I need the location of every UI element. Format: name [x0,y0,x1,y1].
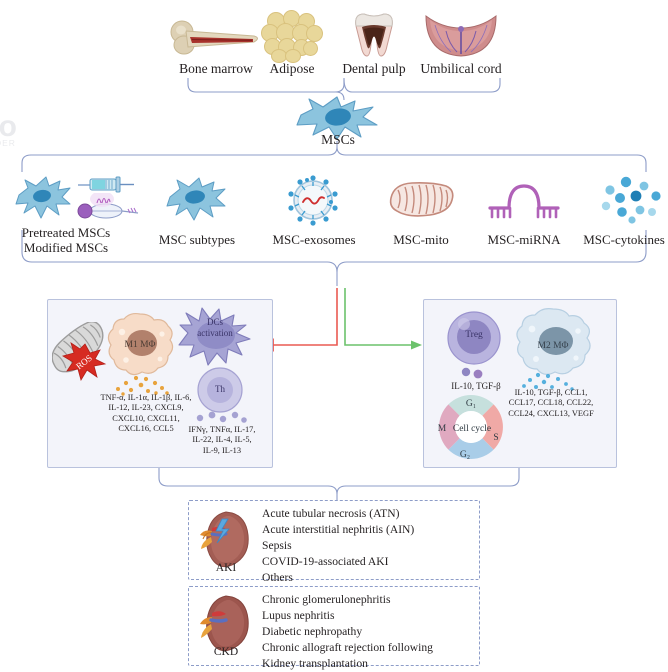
ckd-item-4: Chronic allograft rejection following [262,640,477,656]
aki-item-1: Acute tubular necrosis (ATN) [262,506,472,522]
source-label-umbilical-cord: Umbilical cord [401,61,521,77]
aki-item-5: Others [262,570,472,586]
th-label: Th [200,384,240,394]
msc-bracket-left [22,141,337,172]
bone-marrow-icon [168,14,264,58]
treg-secretion-dots-icon [458,366,492,380]
derivative-label-msc-cytokines: MSC-cytokines [578,232,668,247]
msc-bracket-right [337,147,646,172]
sources-bracket-right [344,78,500,92]
ckd-disease-list: Chronic glomerulonephritis Lupus nephrit… [262,592,477,672]
tooth-icon [350,10,398,60]
panels-bracket-left [159,468,337,500]
msc-subtype-cell-icon [14,175,72,221]
exosome-icon [283,172,343,228]
th-cytokine-line-2: IL-22, IL-4, IL-5, [172,435,272,445]
aki-item-4: COVID-19-associated AKI [262,554,472,570]
ckd-item-1: Chronic glomerulonephritis [262,592,477,608]
cell-cycle-phase-g1: G₁ [466,399,476,409]
umbilical-cord-icon [424,14,498,58]
figure-canvas: bio RENDER [0,0,668,668]
aki-item-3: Sepsis [262,538,472,554]
dc-label-line1: DCs [186,317,244,327]
cytokine-dots-icon [600,176,662,224]
msc-label: MSCs [294,132,382,148]
dc-label-line2: activation [182,328,248,338]
th-cytokine-line-3: IL-9, IL-13 [172,446,272,456]
th-cytokine-line-1: IFNγ, TNFα, IL-17, [172,425,272,435]
aki-caption: AKI [198,562,254,574]
promotion-line [345,288,413,345]
adipose-tissue-icon [259,10,325,60]
cell-cycle-phase-g2: G₂ [460,450,470,460]
ckd-item-5: Kidney transplantation [262,656,477,672]
ckd-item-2: Lupus nephritis [262,608,477,624]
m1-cytokine-line-1: TNF-α, IL-1α, IL-1β, IL-6, [82,393,210,403]
derivative-label-msc-subtypes: MSC subtypes [138,232,256,247]
cell-cycle-phase-m: M [438,424,447,434]
mirna-hairpin-icon [487,182,561,220]
promotion-arrowhead-icon [411,341,422,350]
derivative-label-line1: Pretreated MSCs [0,225,134,240]
cell-cycle-center-label: Cell cycle [453,424,491,434]
derivative-label-msc-exosomes: MSC-exosomes [255,232,373,247]
sources-bracket [188,78,344,92]
gene-modification-icon [76,193,140,227]
msc-subtype-cell-icon-2 [165,176,227,222]
dendritic-cell-icon [176,305,254,371]
aki-item-2: Acute interstitial nephritis (AIN) [262,522,472,538]
inhibition-line [273,288,337,345]
ckd-caption: CKD [198,646,254,658]
ckd-item-3: Diabetic nephropathy [262,624,477,640]
derivative-label-line2: Modified MSCs [0,240,134,255]
cell-cycle-icon: G₁ S G₂ M Cell cycle [432,390,510,464]
panels-bracket-right [337,468,519,494]
cell-cycle-phase-s: S [493,433,498,443]
aki-disease-list: Acute tubular necrosis (ATN) Acute inter… [262,506,472,586]
th-cytokine-list: IFNγ, TNFα, IL-17, IL-22, IL-4, IL-5, IL… [172,425,272,456]
m1-label: M1 MΦ [108,340,172,350]
derivative-label-pretreated-modified: Pretreated MSCs Modified MSCs [0,225,134,255]
m2-label: M2 MΦ [520,341,586,351]
derivative-label-msc-mirna: MSC-miRNA [468,232,580,247]
mitochondrion-icon [386,180,456,220]
derivative-label-msc-mito: MSC-mito [366,232,476,247]
treg-label: Treg [452,330,496,340]
